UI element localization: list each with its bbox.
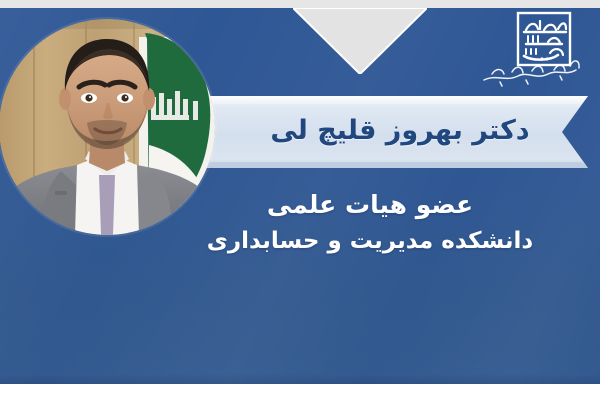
- faculty-department: دانشکده مدیریت و حسابداری: [160, 226, 580, 257]
- professor-name: دکتر بهروز قلیچ لی: [190, 92, 588, 168]
- triangle-notch-decoration: [293, 8, 427, 74]
- faculty-details: عضو هیات علمی دانشکده مدیریت و حسابداری: [160, 188, 580, 257]
- faculty-profile-card: دکتر بهروز قلیچ لی: [0, 0, 600, 400]
- faculty-role: عضو هیات علمی: [160, 188, 580, 222]
- bottom-white-margin: [0, 384, 600, 400]
- university-logo: [476, 8, 588, 94]
- avatar: [0, 19, 215, 235]
